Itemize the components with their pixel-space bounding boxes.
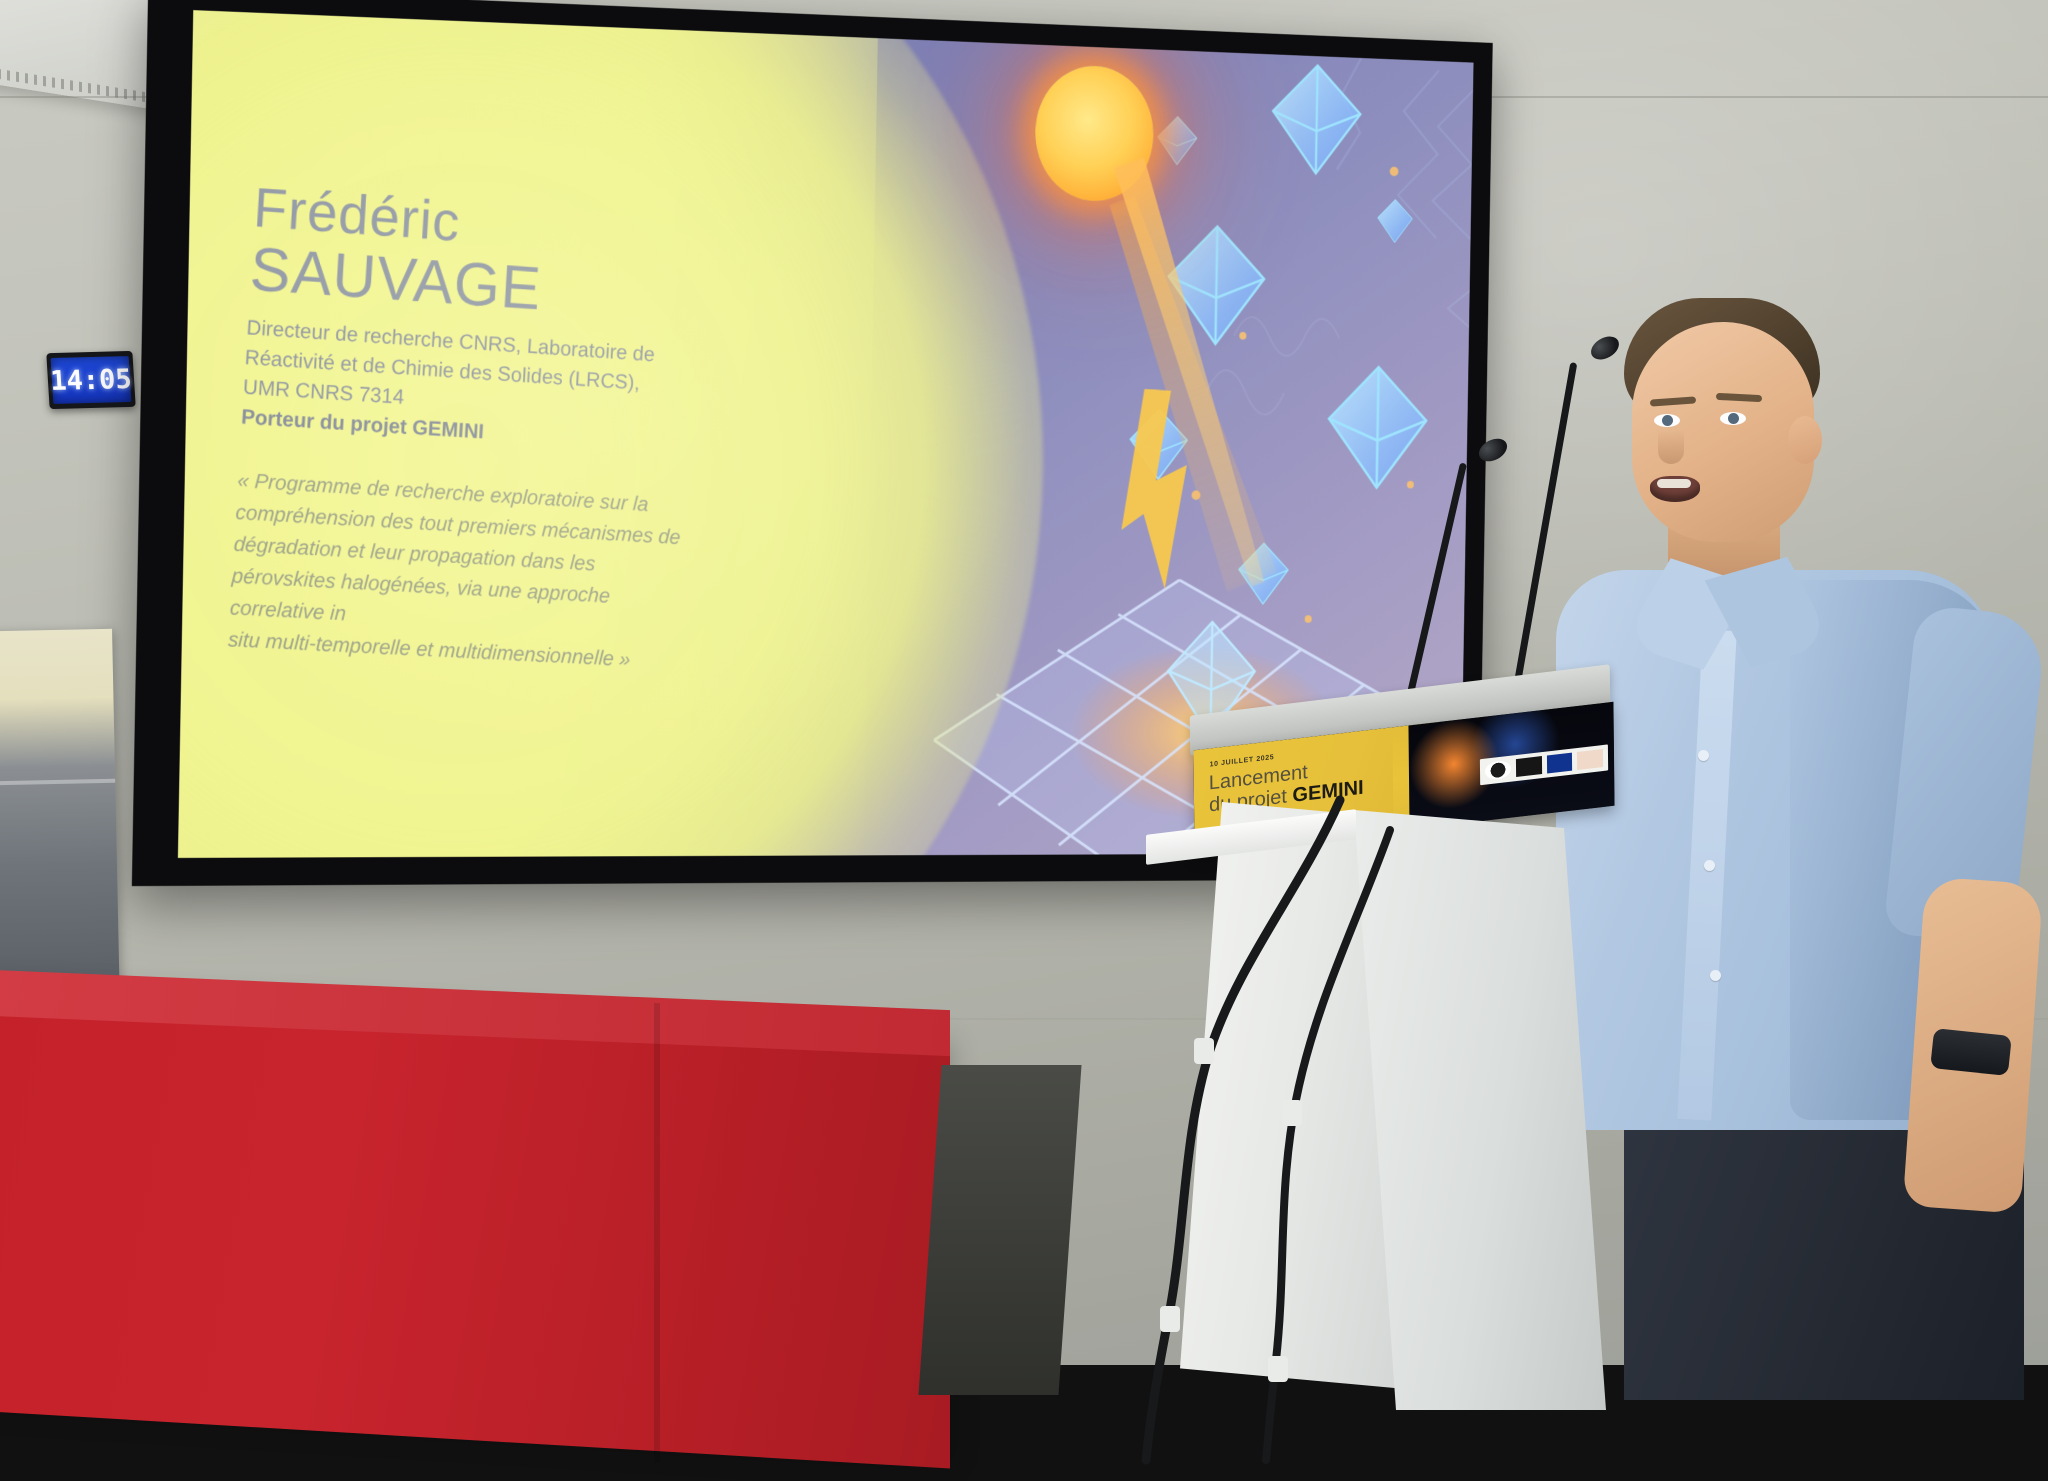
cnrs-logo [1516, 756, 1542, 777]
side-panel-strip [0, 779, 115, 786]
stage-dark-wedge [918, 1065, 1081, 1395]
shirt-button-3 [1710, 970, 1721, 981]
shirt-button-2 [1704, 860, 1715, 871]
partner-logo [1577, 749, 1603, 770]
degradation-arrow-icon [1118, 388, 1235, 601]
erc-logo [1485, 760, 1511, 781]
podium: 10 JUILLET 2025 Lancement du projet GEMI… [1180, 690, 1700, 1390]
speaker-eye-left [1654, 414, 1680, 427]
slide-text-block: Frédéric SAUVAGE Directeur de recherche … [227, 178, 861, 685]
side-panel-board [0, 629, 120, 1011]
slide-project-quote: « Programme de recherche exploratoire su… [227, 466, 845, 686]
speaker-nose [1658, 430, 1684, 464]
speaker-ear [1788, 416, 1822, 464]
speaker-eye-right [1720, 412, 1746, 425]
conference-room-scene: 14:05 [0, 0, 2048, 1365]
clock-time: 14:05 [50, 365, 133, 394]
speaker-wristwatch [1930, 1028, 2012, 1076]
microphone-cable [1090, 800, 1450, 1460]
clock-face: 14:05 [51, 356, 132, 404]
red-stage-block [0, 991, 950, 1468]
digital-wall-clock: 14:05 [46, 351, 135, 409]
speaker-mouth [1650, 476, 1700, 502]
slide-affiliation: Directeur de recherche CNRS, Laboratoire… [240, 314, 854, 470]
eu-flag-logo [1546, 753, 1572, 774]
red-block-edge [654, 1003, 660, 1463]
